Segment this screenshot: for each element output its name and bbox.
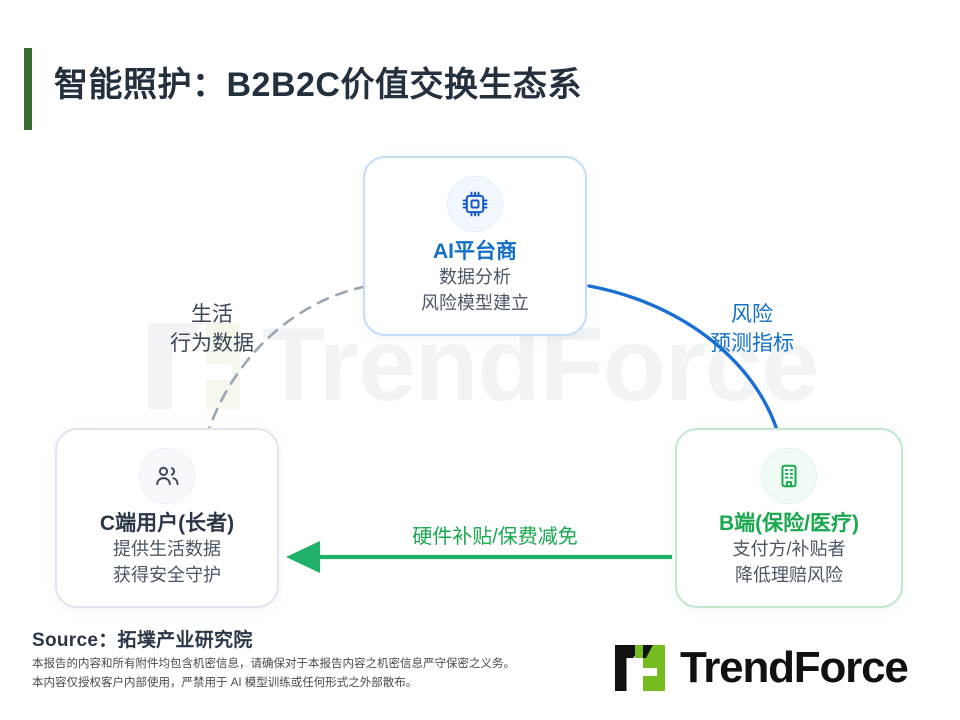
node-title-b-end: B端(保险/医疗) bbox=[719, 510, 859, 537]
node-desc-b-line1: 支付方/补贴者 bbox=[732, 537, 845, 563]
node-title-ai-platform: AI平台商 bbox=[433, 238, 517, 265]
title-accent-bar bbox=[24, 48, 32, 130]
edge-label-risk-line2: 预测指标 bbox=[672, 329, 832, 358]
edge-b-to-c-arrowhead bbox=[286, 541, 320, 573]
edge-label-subsidy: 硬件补贴/保费减免 bbox=[370, 523, 620, 551]
cpu-chip-icon bbox=[447, 176, 503, 232]
node-card-ai-platform[interactable]: AI平台商 数据分析 风险模型建立 bbox=[363, 156, 587, 336]
brand-logo-text: TrendForce bbox=[680, 646, 908, 690]
connector-lines bbox=[0, 0, 960, 720]
node-card-b-end[interactable]: B端(保险/医疗) 支付方/补贴者 降低理赔风险 bbox=[675, 428, 903, 608]
node-desc-ai-line1: 数据分析 bbox=[439, 265, 511, 291]
node-desc-ai-line2: 风险模型建立 bbox=[421, 291, 529, 317]
page-title: 智能照护：B2B2C价值交换生态系 bbox=[54, 64, 914, 107]
disclaimer-line-1: 本报告的内容和所有附件均包含机密信息，请确保对于本报告内容之机密信息严守保密之义… bbox=[32, 655, 515, 674]
edge-label-life-line1: 生活 bbox=[132, 300, 292, 329]
node-card-c-end-user[interactable]: C端用户(长者) 提供生活数据 获得安全守护 bbox=[55, 428, 279, 608]
source-line: Source：拓墣产业研究院 bbox=[32, 625, 253, 652]
disclaimer: 本报告的内容和所有附件均包含机密信息，请确保对于本报告内容之机密信息严守保密之义… bbox=[32, 655, 515, 693]
edge-label-life-data: 生活 行为数据 bbox=[132, 300, 292, 359]
trendforce-logo-mark bbox=[613, 643, 667, 693]
slide-canvas: TrendForce 智能照护：B2B2C价值交换生态系 AI平台商 数据分析 … bbox=[0, 0, 960, 720]
node-desc-c-line1: 提供生活数据 bbox=[113, 537, 221, 563]
edge-label-risk-index: 风险 预测指标 bbox=[672, 300, 832, 359]
brand-logo: TrendForce bbox=[613, 641, 908, 695]
node-desc-b-line2: 降低理赔风险 bbox=[735, 563, 843, 589]
edge-label-life-line2: 行为数据 bbox=[132, 329, 292, 358]
node-title-c-end-user: C端用户(长者) bbox=[100, 510, 234, 537]
users-icon bbox=[139, 448, 195, 504]
edge-label-risk-line1: 风险 bbox=[672, 300, 832, 329]
node-desc-c-line2: 获得安全守护 bbox=[113, 563, 221, 589]
disclaimer-line-2: 本内容仅授权客户内部使用，严禁用于 AI 模型训练或任何形式之外部散布。 bbox=[32, 674, 515, 693]
building-icon bbox=[761, 448, 817, 504]
